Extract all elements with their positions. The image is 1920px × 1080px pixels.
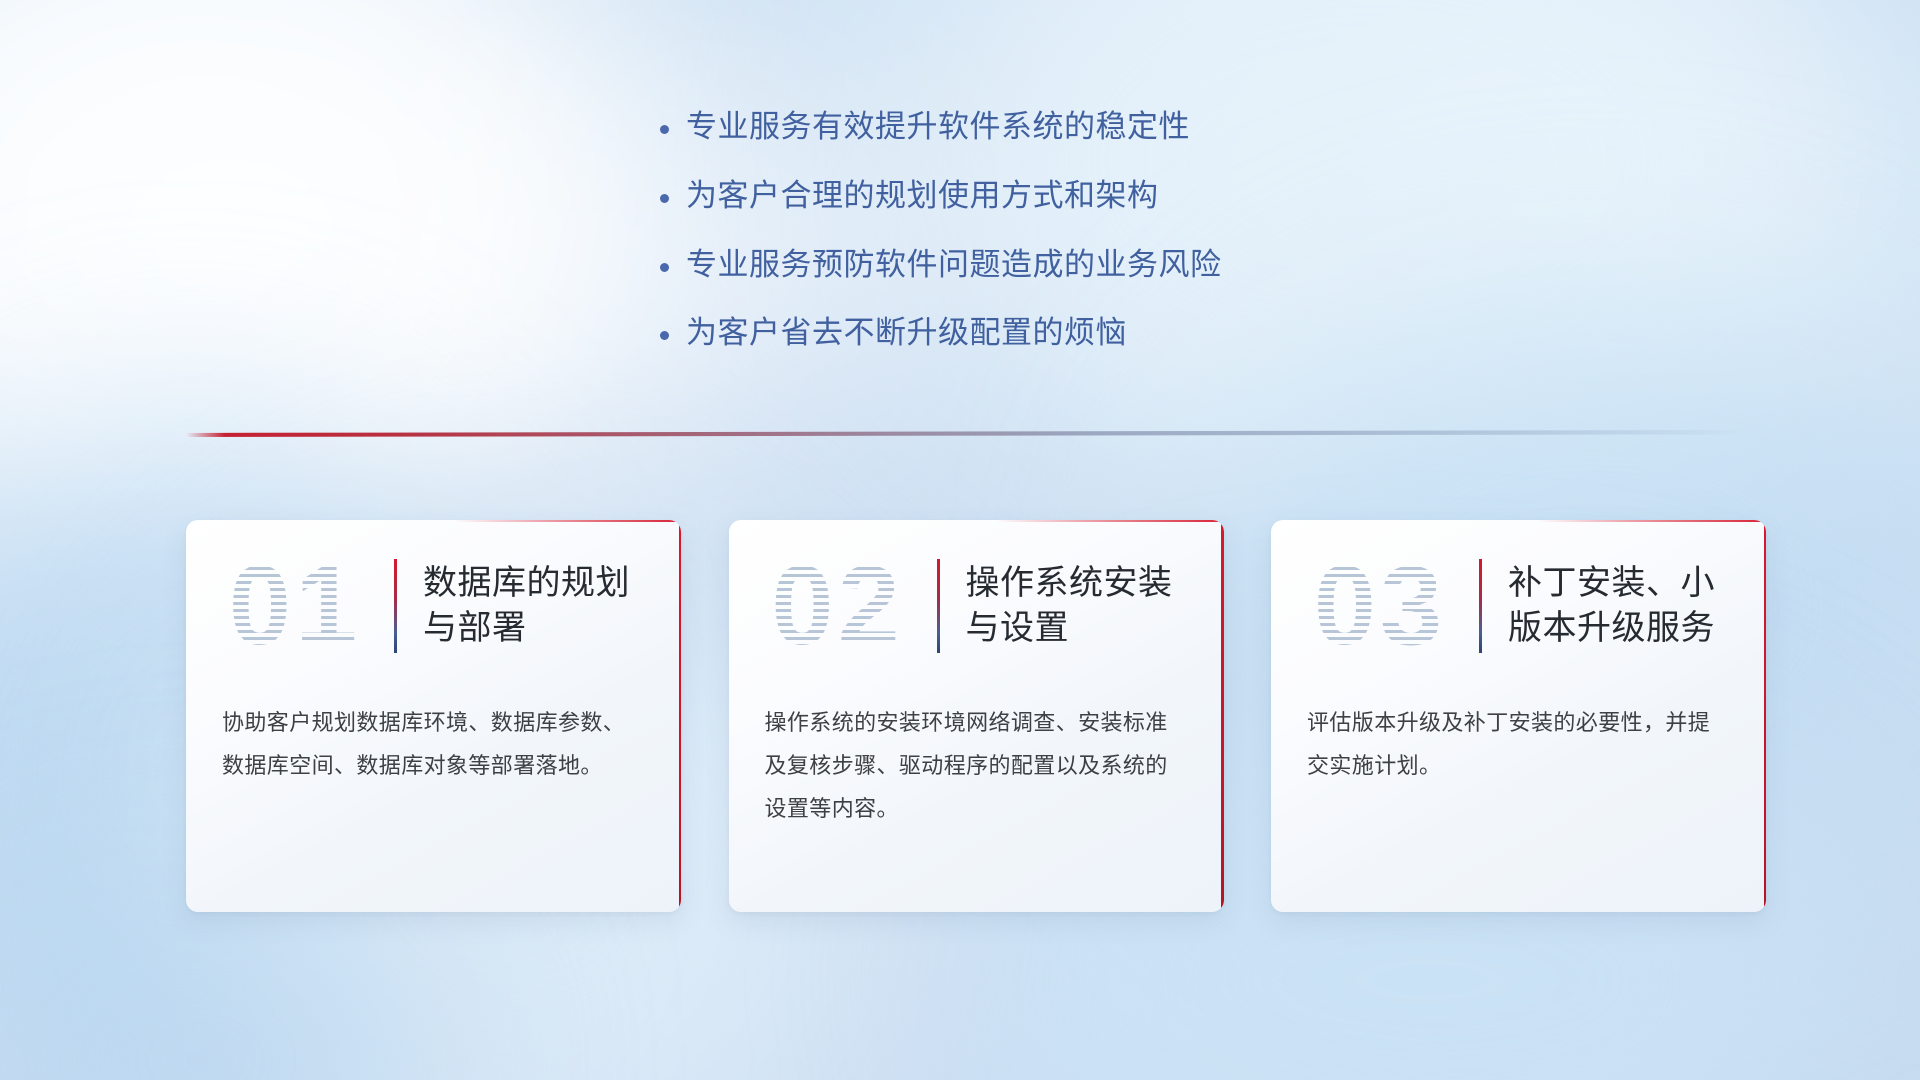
bullet-item: 专业服务有效提升软件系统的稳定性 xyxy=(660,108,1480,147)
card-number: 03 xyxy=(1285,546,1475,666)
bullet-item: 为客户合理的规划使用方式和架构 xyxy=(660,177,1480,216)
card-header: 02 操作系统安装与设置 xyxy=(729,520,1224,692)
slide-canvas: 专业服务有效提升软件系统的稳定性 为客户合理的规划使用方式和架构 专业服务预防软… xyxy=(0,0,1920,1080)
card-header: 03 补丁安装、小版本升级服务 xyxy=(1271,520,1766,692)
bullet-text: 为客户省去不断升级配置的烦恼 xyxy=(686,314,1127,353)
bullet-dot-icon xyxy=(660,181,686,207)
service-card-03[interactable]: 03 补丁安装、小版本升级服务 评估版本升级及补丁安装的必要性，并提交实施计划。 xyxy=(1271,520,1766,912)
bullet-text: 专业服务有效提升软件系统的稳定性 xyxy=(686,108,1190,147)
card-body-text: 操作系统的安装环境网络调查、安装标准及复核步骤、驱动程序的配置以及系统的设置等内… xyxy=(729,692,1224,831)
bullet-dot-icon xyxy=(660,318,686,344)
card-divider-rule xyxy=(1479,559,1482,653)
card-title: 数据库的规划与部署 xyxy=(423,561,681,651)
card-divider-rule xyxy=(394,559,397,653)
service-card-02[interactable]: 02 操作系统安装与设置 操作系统的安装环境网络调查、安装标准及复核步骤、驱动程… xyxy=(729,520,1224,912)
card-number: 02 xyxy=(743,546,933,666)
bullet-item: 专业服务预防软件问题造成的业务风险 xyxy=(660,246,1480,285)
bullet-text: 为客户合理的规划使用方式和架构 xyxy=(686,177,1159,216)
bullet-text: 专业服务预防软件问题造成的业务风险 xyxy=(686,246,1222,285)
service-card-row: 01 数据库的规划与部署 协助客户规划数据库环境、数据库参数、数据库空间、数据库… xyxy=(186,520,1766,920)
slide-content: 专业服务有效提升软件系统的稳定性 为客户合理的规划使用方式和架构 专业服务预防软… xyxy=(0,0,1920,1080)
service-card-01[interactable]: 01 数据库的规划与部署 协助客户规划数据库环境、数据库参数、数据库空间、数据库… xyxy=(186,520,681,912)
card-number: 01 xyxy=(200,546,390,666)
card-header: 01 数据库的规划与部署 xyxy=(186,520,681,692)
bullet-dot-icon xyxy=(660,250,686,276)
card-title: 操作系统安装与设置 xyxy=(966,561,1224,651)
card-body-text: 协助客户规划数据库环境、数据库参数、数据库空间、数据库对象等部署落地。 xyxy=(186,692,681,788)
bullet-dot-icon xyxy=(660,112,686,138)
card-title: 补丁安装、小版本升级服务 xyxy=(1508,561,1766,651)
divider-line xyxy=(186,430,1746,437)
section-divider xyxy=(186,424,1746,444)
benefit-bullet-list: 专业服务有效提升软件系统的稳定性 为客户合理的规划使用方式和架构 专业服务预防软… xyxy=(660,108,1480,383)
card-body-text: 评估版本升级及补丁安装的必要性，并提交实施计划。 xyxy=(1271,692,1766,788)
bullet-item: 为客户省去不断升级配置的烦恼 xyxy=(660,314,1480,353)
card-divider-rule xyxy=(937,559,940,653)
